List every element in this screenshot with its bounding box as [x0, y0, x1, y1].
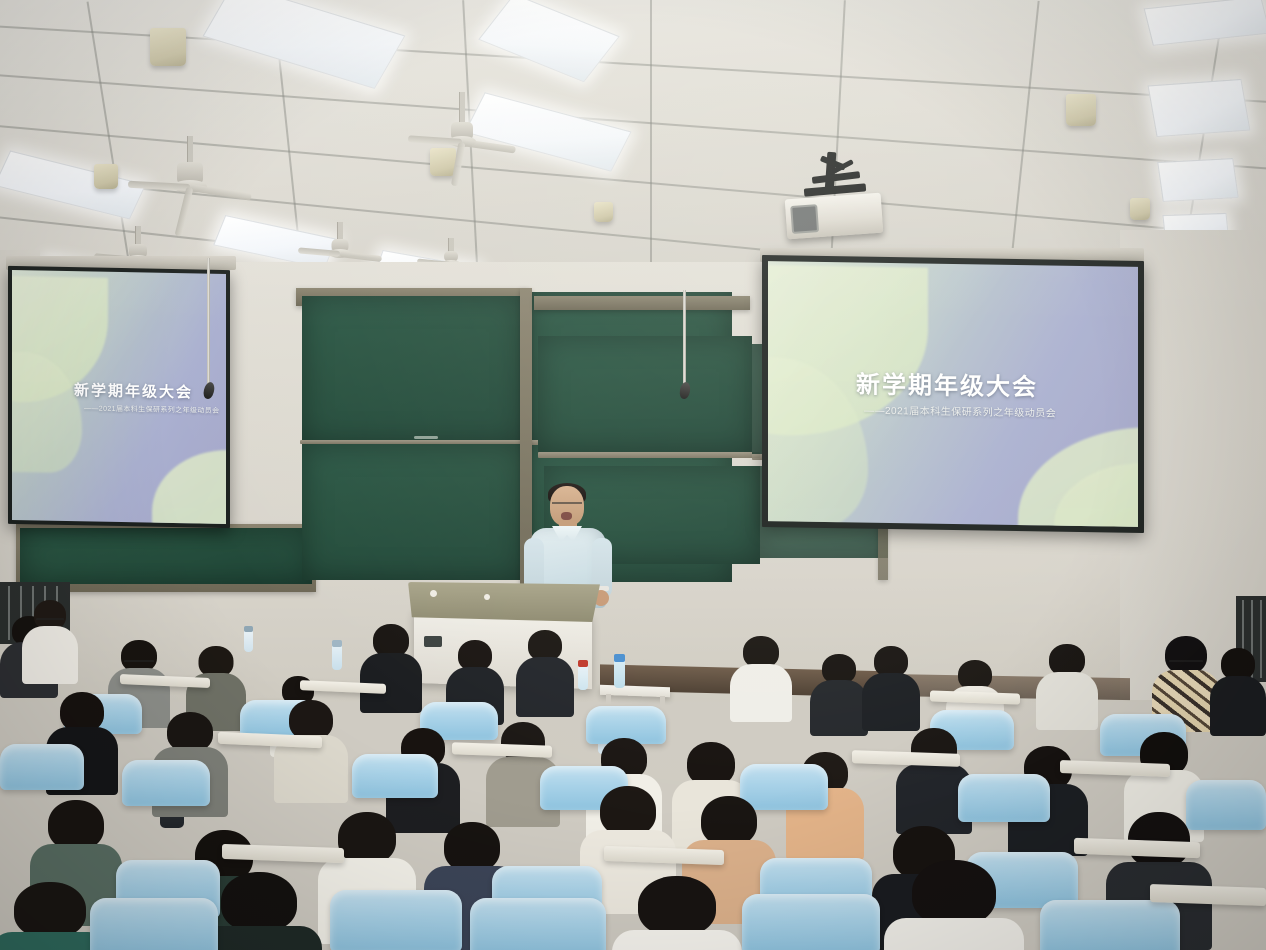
- audience-member: [360, 624, 422, 710]
- person-head: [701, 796, 757, 846]
- lectern-button[interactable]: [430, 590, 437, 597]
- audience-member: [730, 636, 792, 720]
- projector-lens: [790, 204, 819, 234]
- person-head: [444, 822, 500, 872]
- right-projection-screen[interactable]: 新学期年级大会 ——2021届本科生保研系列之年级动员会: [762, 255, 1144, 533]
- tablet-desk: [930, 690, 1020, 704]
- person-torso: [862, 673, 920, 731]
- ceiling-speaker: [1066, 94, 1096, 126]
- person-head: [912, 860, 996, 926]
- right-slide-title: 新学期年级大会: [856, 364, 1038, 402]
- left-slide-title: 新学期年级大会: [74, 379, 193, 402]
- hanging-microphone-cable: [683, 290, 686, 386]
- lecture-seat[interactable]: [0, 744, 84, 790]
- person-torso: [884, 918, 1024, 950]
- left-projection-screen[interactable]: 新学期年级大会 ——2021届本科生保研系列之年级动员会: [8, 266, 230, 528]
- audience-member: [612, 876, 742, 950]
- lecture-seat[interactable]: [1040, 900, 1180, 950]
- lecture-seat[interactable]: [90, 898, 218, 950]
- ceiling-light: [478, 0, 620, 82]
- audience-member: [884, 860, 1024, 950]
- tablet-desk: [452, 742, 552, 757]
- ceiling-speaker: [150, 28, 186, 66]
- person-head: [289, 700, 333, 740]
- blackboard-frame-right: [534, 296, 750, 310]
- lecture-seat[interactable]: [352, 754, 438, 798]
- lecture-seat[interactable]: [122, 760, 210, 806]
- right-screen-surface: 新学期年级大会 ——2021届本科生保研系列之年级动员会: [768, 261, 1138, 527]
- lectern-control-panel[interactable]: [424, 636, 442, 647]
- hanging-microphone-cable: [207, 258, 210, 386]
- chalk-rail: [300, 440, 524, 444]
- ceiling-light: [1148, 79, 1251, 137]
- right-slide-subtitle: ——2021届本科生保研系列之年级动员会: [864, 402, 1056, 420]
- water-bottle[interactable]: [614, 654, 625, 688]
- ceiling-fan: [130, 136, 250, 206]
- blackboard-right-upper: [538, 336, 752, 452]
- audience-member: [862, 646, 920, 728]
- person-torso: [612, 930, 742, 950]
- tablet-desk: [852, 750, 960, 767]
- audience-member: [1036, 644, 1098, 728]
- blackboard-center-lower: [302, 444, 522, 580]
- water-bottle[interactable]: [578, 660, 588, 690]
- ceiling-speaker: [94, 164, 118, 189]
- audience-member: [274, 700, 348, 798]
- ceiling-light: [203, 0, 406, 89]
- water-bottle[interactable]: [332, 640, 342, 670]
- person-torso: [1210, 676, 1266, 736]
- audience-member: [1210, 648, 1266, 734]
- tablet-desk: [1074, 838, 1200, 858]
- person-head: [167, 712, 213, 752]
- person-torso: [1036, 672, 1098, 730]
- person-torso: [810, 680, 868, 736]
- lecture-hall-photo: 新学期年级大会 ——2021届本科生保研系列之年级动员会 新学期年级大会 ——2…: [0, 0, 1266, 950]
- person-head: [221, 872, 297, 932]
- blackboard-center-upper: [302, 296, 522, 444]
- lecture-seat[interactable]: [742, 894, 880, 950]
- ceiling-speaker: [1130, 198, 1150, 220]
- ceiling-light: [1157, 158, 1238, 202]
- person-head: [1165, 636, 1207, 674]
- person-torso: [516, 657, 574, 717]
- left-screen-surface: 新学期年级大会 ——2021届本科生保研系列之年级动员会: [12, 270, 226, 524]
- audience-member: [810, 654, 868, 734]
- person-head: [48, 800, 104, 850]
- person-head: [14, 882, 86, 938]
- lecture-seat[interactable]: [958, 774, 1050, 822]
- ceiling-fan: [412, 92, 512, 158]
- ceiling-light: [1144, 0, 1266, 46]
- person-head: [338, 812, 396, 864]
- ceiling-projector: [785, 193, 884, 240]
- person-head: [638, 876, 716, 936]
- person-torso: [730, 664, 792, 722]
- person-head: [60, 692, 104, 732]
- lectern-button[interactable]: [484, 594, 490, 600]
- lecture-seat[interactable]: [470, 898, 606, 950]
- presenter-mouth: [561, 512, 572, 520]
- presenter-glasses: [552, 502, 582, 510]
- chalk-rail: [538, 452, 760, 458]
- person-torso: [22, 626, 78, 684]
- lectern-top: [408, 582, 600, 622]
- person-head: [600, 786, 656, 836]
- audience-member: [22, 600, 78, 680]
- audience-member: [516, 630, 574, 714]
- ceiling-light: [0, 151, 146, 220]
- ceiling-speaker: [594, 202, 613, 222]
- lecture-seat[interactable]: [330, 890, 462, 950]
- left-slide-subtitle: ——2021届本科生保研系列之年级动员会: [84, 403, 220, 416]
- blackboard-left: [20, 528, 312, 584]
- chalk-residue: [414, 436, 438, 439]
